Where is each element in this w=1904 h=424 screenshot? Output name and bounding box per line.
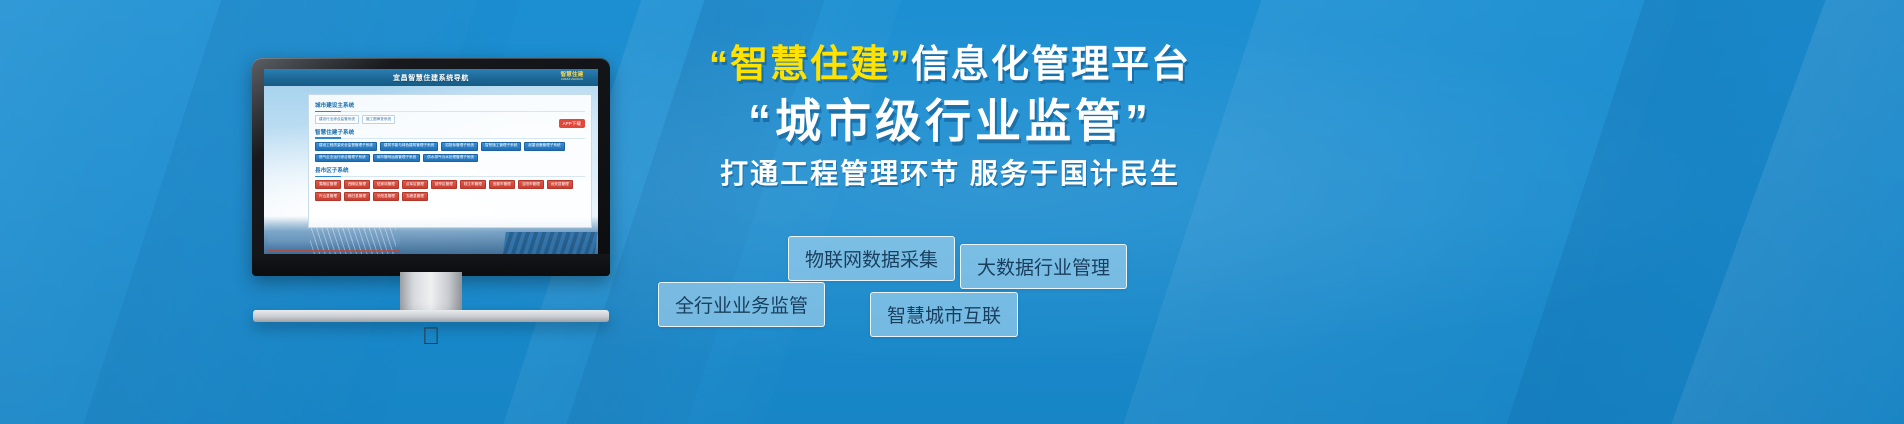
headline-block: “智慧住建”信息化管理平台 “城市级行业监管” 打通工程管理环节 服务于国计民生 (640, 40, 1260, 188)
screen-mini-button[interactable]: 建筑节能与绿色建筑管理子系统 (380, 142, 438, 151)
headline-highlight: “智慧住建” (709, 44, 911, 86)
screen-logo: 智慧住建 ZHIHUI ZHUJIAN (550, 71, 594, 84)
screen-mini-button[interactable]: 长阳县管理 (373, 192, 399, 201)
apple-logo-icon:  (418, 322, 444, 352)
screen-section-buttons-2: 建设工程质量安全监督管理子系统 建筑节能与绿色建筑管理子系统 招投标管理子系统 … (315, 142, 585, 163)
headline-line-1-rest: 信息化管理平台 (911, 44, 1191, 86)
screen-mini-button[interactable]: 招投标管理子系统 (441, 142, 478, 151)
screen-mini-button[interactable]: 建设行业综合监管系统 (315, 115, 359, 124)
screen-section-buttons-1: 建设行业综合监管系统 施工图审查系统 (315, 115, 585, 124)
headline-line-2: “城市级行业监管” (640, 98, 1260, 144)
headline-line-1: “智慧住建”信息化管理平台 (640, 46, 1260, 84)
screen-content-card: APP下载 城市建设主系统 建设行业综合监管系统 施工图审查系统 智慧住建子系统… (308, 94, 592, 228)
feature-tag-smart-city[interactable]: 智慧城市互联 (870, 292, 1018, 337)
screen-mini-button[interactable]: 夷陵区管理 (315, 180, 341, 189)
screen-mini-button[interactable]: 点军区管理 (402, 180, 428, 189)
screen-mini-button[interactable]: 燃气企业运行综合管理子系统 (315, 154, 370, 163)
screen-mini-button[interactable]: 起重设备管理子系统 (524, 142, 564, 151)
screen-logo-en: ZHIHUI ZHUJIAN (561, 79, 583, 82)
screen-mini-button[interactable]: 秭归县管理 (344, 192, 370, 201)
screen-site-title: 宜昌智慧住建系统导航 (393, 73, 469, 83)
screen-mini-button[interactable]: 施工图审查系统 (362, 115, 395, 124)
screen-top-bar: 宜昌智慧住建系统导航 智慧住建 ZHIHUI ZHUJIAN (264, 69, 598, 86)
screen-mini-button[interactable]: 猇亭区管理 (431, 180, 457, 189)
monitor-bezel: 宜昌智慧住建系统导航 智慧住建 ZHIHUI ZHUJIAN APP下载 城市建… (252, 58, 610, 276)
screen-mini-button[interactable]: 当阳市管理 (518, 180, 544, 189)
screen-section-buttons-3: 夷陵区管理 西陵区管理 伍家岗管理 点军区管理 猇亭区管理 枝江市管理 宜都市管… (315, 180, 585, 201)
screen-section-title-1: 城市建设主系统 (315, 101, 585, 112)
screen-mini-button[interactable]: 远安县管理 (547, 180, 573, 189)
screen-section-title-2: 智慧住建子系统 (315, 128, 585, 139)
monitor-stand-base (253, 310, 609, 322)
screen-mini-button[interactable]: 西陵区管理 (344, 180, 370, 189)
screen-mini-button[interactable]: 兴山县管理 (315, 192, 341, 201)
screen-mini-button[interactable]: 五峰县管理 (402, 192, 428, 201)
promo-banner: 宜昌智慧住建系统导航 智慧住建 ZHIHUI ZHUJIAN APP下载 城市建… (0, 0, 1904, 424)
screen-section-title-3: 县市区子系统 (315, 166, 585, 177)
monitor-mockup: 宜昌智慧住建系统导航 智慧住建 ZHIHUI ZHUJIAN APP下载 城市建… (252, 58, 610, 308)
headline-line-3: 打通工程管理环节 服务于国计民生 (640, 160, 1260, 188)
screen-mini-button[interactable]: 伍家岗管理 (373, 180, 399, 189)
feature-tag-bigdata[interactable]: 大数据行业管理 (960, 244, 1127, 289)
feature-tag-group: 物联网数据采集 大数据行业管理 全行业业务监管 智慧城市互联 (640, 236, 1280, 386)
monitor-screen: 宜昌智慧住建系统导航 智慧住建 ZHIHUI ZHUJIAN APP下载 城市建… (264, 69, 598, 260)
screen-mini-button[interactable]: 供水排气污水处理管理子系统 (423, 154, 478, 163)
feature-tag-iot[interactable]: 物联网数据采集 (788, 236, 955, 281)
screen-mini-button[interactable]: 枝江市管理 (460, 180, 486, 189)
screen-mini-button[interactable]: 建设工程质量安全监督管理子系统 (315, 142, 377, 151)
feature-tag-industry-supervision[interactable]: 全行业业务监管 (658, 282, 825, 327)
screen-mini-button[interactable]: 城市管网运维管理子系统 (373, 154, 421, 163)
screen-download-button[interactable]: APP下载 (559, 119, 585, 128)
screen-mini-button[interactable]: 智慧施工管理子系统 (481, 142, 521, 151)
screen-mini-button[interactable]: 宜都市管理 (489, 180, 515, 189)
